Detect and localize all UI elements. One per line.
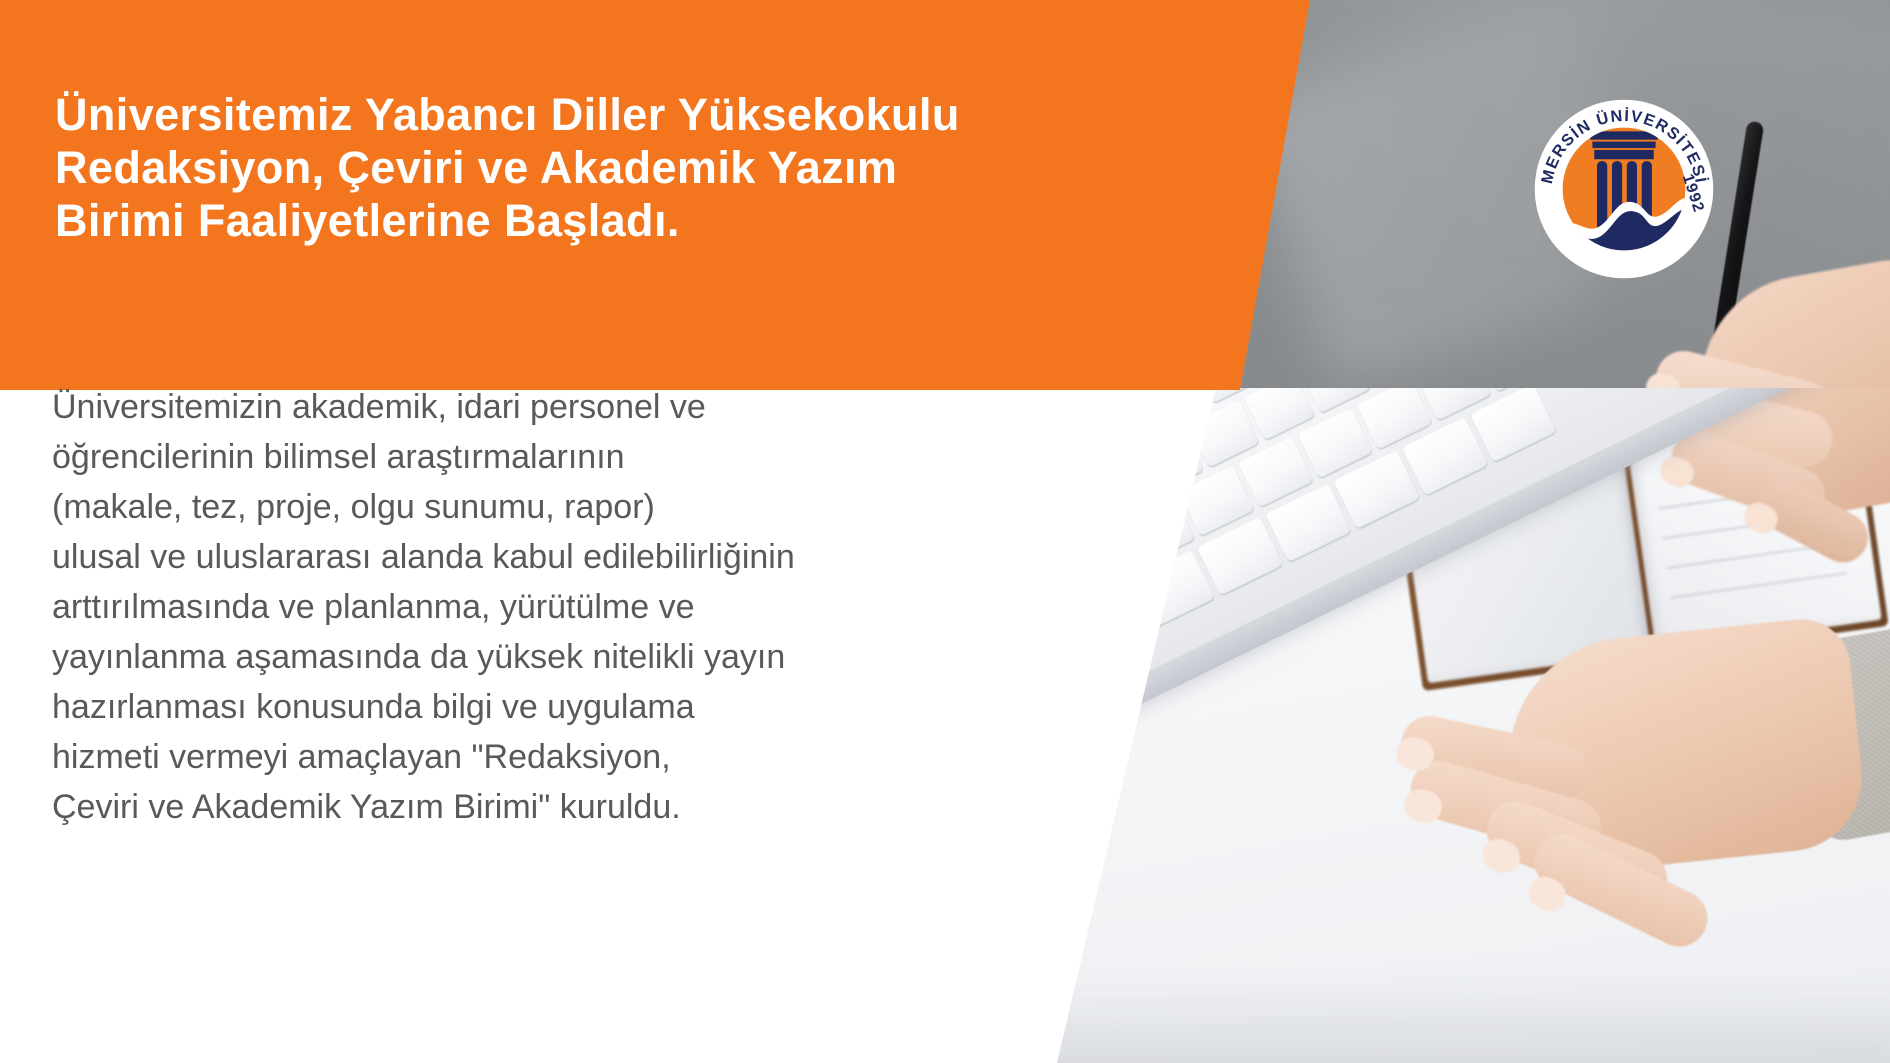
- keyboard-key: [985, 441, 1052, 505]
- keyboard-key: [1089, 390, 1156, 454]
- keyboard-key: [951, 402, 1013, 463]
- news-poster: Üniversitemiz Yabancı Diller Yüksekokulu…: [0, 0, 1890, 1063]
- keyboard-key: [1037, 416, 1104, 480]
- keyboard-key: [1060, 524, 1136, 595]
- hand-typing: [1378, 612, 1890, 1032]
- keyboard-key: [1001, 552, 1077, 623]
- keyboard-key: [1021, 482, 1092, 550]
- orange-banner: Üniversitemiz Yabancı Diller Yüksekokulu…: [0, 0, 1320, 390]
- keyboard-key: [1060, 584, 1147, 663]
- keyboard-key: [965, 509, 1036, 577]
- mersin-universitesi-logo-icon: MERSİN ÜNİVERSİTESİ 1992: [1531, 96, 1717, 282]
- body-paragraph: Üniversitemizin akademik, idari personel…: [52, 382, 957, 832]
- keyboard-key: [1077, 455, 1148, 523]
- page-title: Üniversitemiz Yabancı Diller Yüksekokulu…: [55, 88, 1065, 247]
